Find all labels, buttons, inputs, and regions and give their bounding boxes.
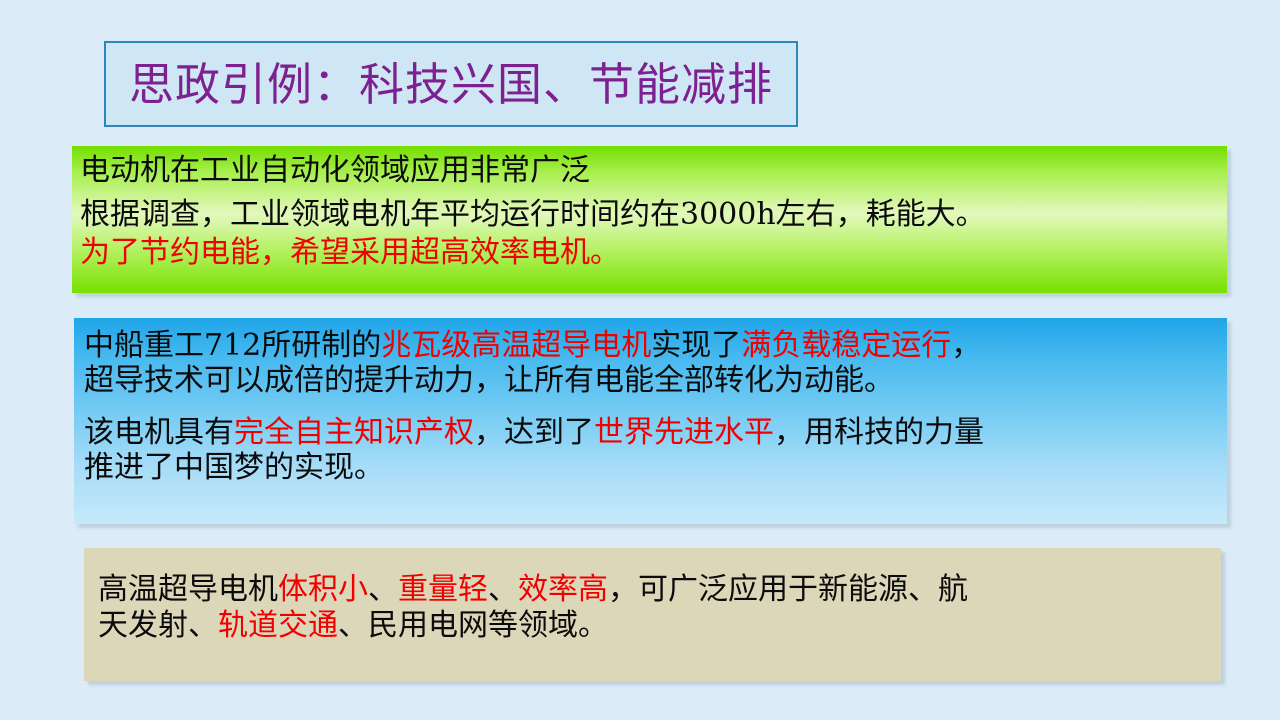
green-box-line-1: 电动机在工业自动化领域应用非常广泛 [80, 152, 1227, 190]
text-run-highlight: 轨道交通 [218, 608, 338, 643]
text-run: 根据调查，工业领域电机年平均运行时间约在3000h左右，耗能大。 [80, 197, 986, 232]
text-run: ，达到了 [474, 415, 594, 450]
text-run: 超导技术可以成倍的提升动力，让所有电能全部转化为动能。 [84, 363, 894, 398]
blue-box-line-2: 超导技术可以成倍的提升动力，让所有电能全部转化为动能。 [84, 363, 1227, 398]
text-run: ，用科技的力量 [774, 415, 984, 450]
slide-title-box: 思政引例：科技兴国、节能减排 [104, 41, 798, 127]
text-run: 、民用电网等领域。 [338, 608, 608, 643]
blue-box-line-4: 推进了中国梦的实现。 [84, 450, 1227, 485]
blue-box-line-3: 该电机具有完全自主知识产权，达到了世界先进水平，用科技的力量 [84, 415, 1227, 450]
text-run: 推进了中国梦的实现。 [84, 450, 384, 485]
beige-box-line-2: 天发射、轨道交通、民用电网等领域。 [98, 608, 1221, 644]
text-run-highlight: 兆瓦级高温超导电机 [381, 328, 651, 363]
text-run: 天发射、 [98, 608, 218, 643]
text-run: 高温超导电机 [98, 572, 278, 607]
text-run-highlight: 世界先进水平 [594, 415, 774, 450]
page-title: 思政引例：科技兴国、节能减排 [129, 62, 773, 107]
beige-content-box: 高温超导电机体积小、重量轻、效率高，可广泛应用于新能源、航 天发射、轨道交通、民… [84, 548, 1221, 681]
text-run-highlight: 体积小 [278, 572, 368, 607]
text-run-highlight: 为了节约电能，希望采用超高效率电机。 [80, 235, 620, 270]
text-run-highlight: 满负载稳定运行 [741, 328, 951, 363]
text-run-highlight: 重量轻 [398, 572, 488, 607]
text-run: ， [951, 328, 981, 363]
text-run: 、 [368, 572, 398, 607]
text-run: 电动机在工业自动化领域应用非常广泛 [80, 153, 590, 188]
text-run-highlight: 完全自主知识产权 [234, 415, 474, 450]
text-run-highlight: 效率高 [518, 572, 608, 607]
beige-box-line-1: 高温超导电机体积小、重量轻、效率高，可广泛应用于新能源、航 [98, 572, 1221, 608]
green-box-line-3: 为了节约电能，希望采用超高效率电机。 [80, 234, 1227, 272]
text-run: 实现了 [651, 328, 741, 363]
text-run: 、 [488, 572, 518, 607]
text-run: ，可广泛应用于新能源、航 [608, 572, 968, 607]
text-run: 中船重工712所研制的 [84, 328, 381, 363]
green-content-box: 电动机在工业自动化领域应用非常广泛 根据调查，工业领域电机年平均运行时间约在30… [72, 146, 1227, 293]
green-box-line-2: 根据调查，工业领域电机年平均运行时间约在3000h左右，耗能大。 [80, 196, 1227, 234]
blue-box-line-1: 中船重工712所研制的兆瓦级高温超导电机实现了满负载稳定运行， [84, 328, 1227, 363]
text-run: 该电机具有 [84, 415, 234, 450]
blue-content-box: 中船重工712所研制的兆瓦级高温超导电机实现了满负载稳定运行， 超导技术可以成倍… [74, 318, 1227, 524]
